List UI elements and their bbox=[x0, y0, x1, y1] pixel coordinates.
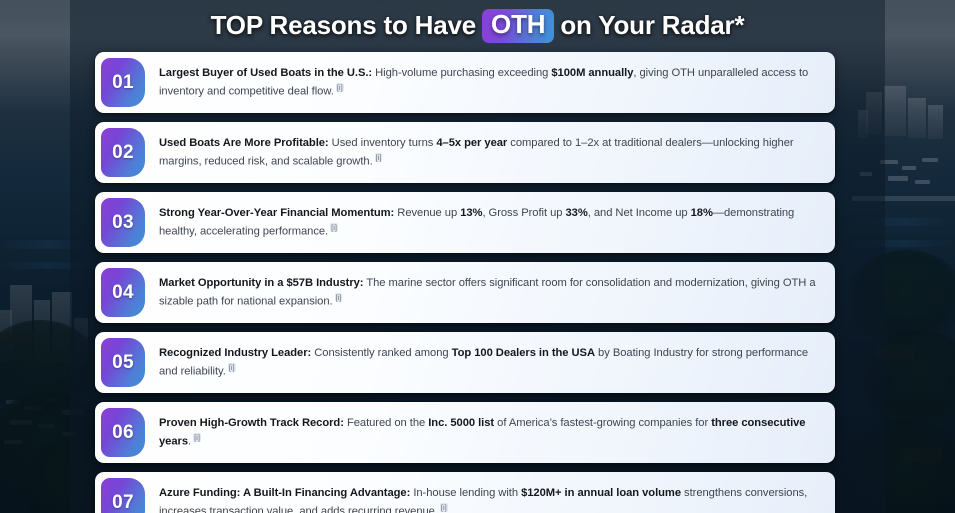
reason-number-badge: 01 bbox=[101, 58, 145, 107]
page-title: TOP Reasons to Have OTH on Your Radar* bbox=[211, 9, 745, 42]
citation-marker[interactable]: [i] bbox=[440, 503, 448, 512]
reason-number-badge: 05 bbox=[101, 338, 145, 387]
list-item[interactable]: 04 Market Opportunity in a $57B Industry… bbox=[95, 262, 835, 323]
reason-lead: Proven High-Growth Track Record: bbox=[159, 417, 344, 429]
reason-body: Proven High-Growth Track Record: Feature… bbox=[145, 402, 835, 463]
reason-body: Recognized Industry Leader: Consistently… bbox=[145, 332, 835, 393]
reason-text: Proven High-Growth Track Record: Feature… bbox=[159, 414, 819, 451]
reason-text: Largest Buyer of Used Boats in the U.S.:… bbox=[159, 64, 819, 101]
reason-number-badge: 04 bbox=[101, 268, 145, 317]
reason-number-badge: 07 bbox=[101, 478, 145, 513]
list-item[interactable]: 02 Used Boats Are More Profitable: Used … bbox=[95, 122, 835, 183]
reason-highlight: 18% bbox=[691, 207, 713, 219]
reason-lead: Market Opportunity in a $57B Industry: bbox=[159, 277, 363, 289]
list-item[interactable]: 06 Proven High-Growth Track Record: Feat… bbox=[95, 402, 835, 463]
reason-highlight: Inc. 5000 list bbox=[428, 417, 494, 429]
reason-highlight: 4–5x per year bbox=[436, 137, 507, 149]
reason-lead: Azure Funding: A Built-In Financing Adva… bbox=[159, 487, 410, 499]
reason-text: Used Boats Are More Profitable: Used inv… bbox=[159, 134, 819, 171]
oth-brand-badge: OTH bbox=[482, 9, 554, 42]
reason-seg: of America’s fastest-growing companies f… bbox=[494, 417, 711, 429]
citation-marker[interactable]: [i] bbox=[335, 293, 343, 302]
reason-lead: Largest Buyer of Used Boats in the U.S.: bbox=[159, 67, 372, 79]
reason-text: Market Opportunity in a $57B Industry: T… bbox=[159, 274, 819, 311]
reason-seg: . bbox=[188, 436, 191, 448]
reason-highlight: Top 100 Dealers in the USA bbox=[452, 347, 595, 359]
reason-lead: Recognized Industry Leader: bbox=[159, 347, 311, 359]
citation-marker[interactable]: [i] bbox=[375, 153, 383, 162]
citation-marker[interactable]: [i] bbox=[330, 223, 338, 232]
reason-number-badge: 03 bbox=[101, 198, 145, 247]
reason-number-badge: 06 bbox=[101, 408, 145, 457]
citation-marker[interactable]: [i] bbox=[336, 83, 344, 92]
reason-body: Market Opportunity in a $57B Industry: T… bbox=[145, 262, 835, 323]
list-item[interactable]: 01 Largest Buyer of Used Boats in the U.… bbox=[95, 52, 835, 113]
reason-seg: , Gross Profit up bbox=[482, 207, 565, 219]
page-title-after: on Your Radar* bbox=[560, 10, 744, 41]
reason-number-badge: 02 bbox=[101, 128, 145, 177]
reason-seg: Revenue up bbox=[394, 207, 460, 219]
reason-highlight: $120M+ in annual loan volume bbox=[521, 487, 681, 499]
citation-marker[interactable]: [i] bbox=[228, 363, 236, 372]
title-bar: TOP Reasons to Have OTH on Your Radar* bbox=[0, 0, 955, 52]
reasons-list: 01 Largest Buyer of Used Boats in the U.… bbox=[0, 52, 955, 513]
reason-body: Largest Buyer of Used Boats in the U.S.:… bbox=[145, 52, 835, 113]
reason-seg: Featured on the bbox=[344, 417, 428, 429]
reason-seg: Consistently ranked among bbox=[311, 347, 451, 359]
reason-seg: In-house lending with bbox=[410, 487, 521, 499]
citation-marker[interactable]: [i] bbox=[193, 433, 201, 442]
reason-text: Strong Year-Over-Year Financial Momentum… bbox=[159, 204, 819, 241]
list-item[interactable]: 07 Azure Funding: A Built-In Financing A… bbox=[95, 472, 835, 513]
list-item[interactable]: 05 Recognized Industry Leader: Consisten… bbox=[95, 332, 835, 393]
reason-lead: Strong Year-Over-Year Financial Momentum… bbox=[159, 207, 394, 219]
reason-text: Azure Funding: A Built-In Financing Adva… bbox=[159, 484, 819, 513]
reason-text: Recognized Industry Leader: Consistently… bbox=[159, 344, 819, 381]
reason-body: Azure Funding: A Built-In Financing Adva… bbox=[145, 472, 835, 513]
reason-seg: High-volume purchasing exceeding bbox=[372, 67, 551, 79]
list-item[interactable]: 03 Strong Year-Over-Year Financial Momen… bbox=[95, 192, 835, 253]
reason-highlight: 13% bbox=[460, 207, 482, 219]
reasons-slide: TOP Reasons to Have OTH on Your Radar* 0… bbox=[0, 0, 955, 513]
page-title-before: TOP Reasons to Have bbox=[211, 10, 476, 41]
reason-highlight: $100M annually bbox=[551, 67, 633, 79]
reason-highlight: 33% bbox=[565, 207, 587, 219]
reason-seg: Used inventory turns bbox=[329, 137, 437, 149]
reason-lead: Used Boats Are More Profitable: bbox=[159, 137, 329, 149]
reason-body: Strong Year-Over-Year Financial Momentum… bbox=[145, 192, 835, 253]
reason-seg: , and Net Income up bbox=[588, 207, 691, 219]
reason-body: Used Boats Are More Profitable: Used inv… bbox=[145, 122, 835, 183]
